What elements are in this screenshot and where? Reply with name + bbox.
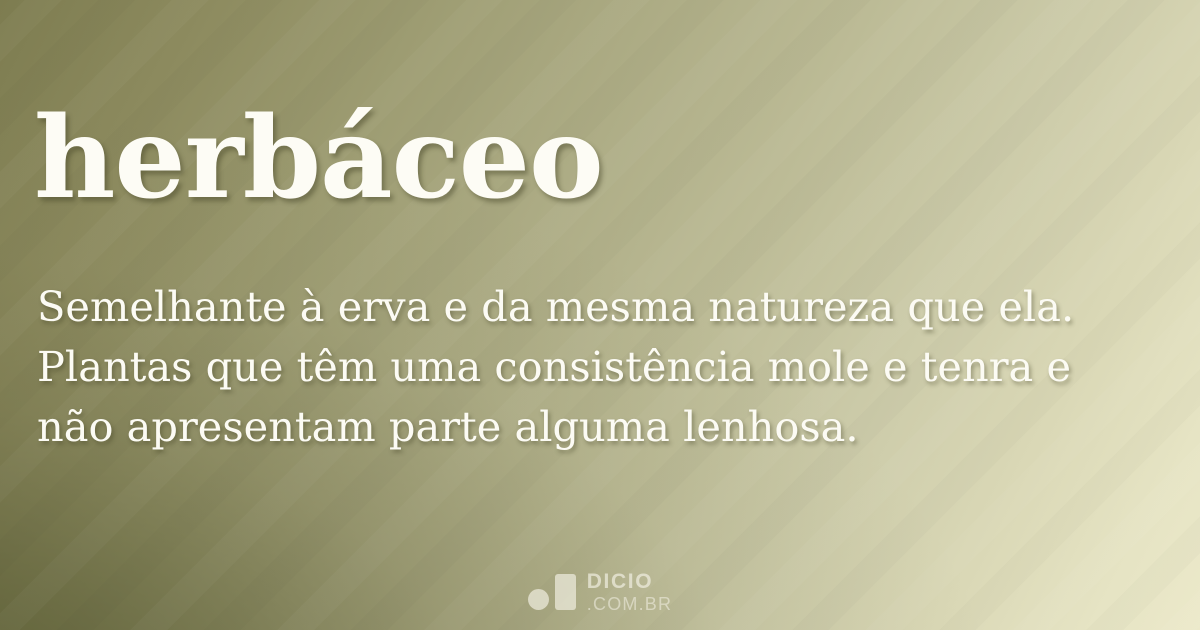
definition-line: Plantas que têm uma consistência mole e … [37, 337, 1172, 397]
definition-card: herbáceo Semelhante à erva e da mesma na… [0, 0, 1200, 630]
logo-tld: .COM.BR [587, 595, 672, 613]
definition-line: Semelhante à erva e da mesma natureza qu… [37, 277, 1172, 337]
logo-name: DICIO [587, 571, 672, 592]
circle-mark-icon [528, 589, 549, 610]
logo-mark [528, 574, 576, 610]
dicio-logo: DICIO .COM.BR [0, 571, 1200, 613]
card-content: herbáceo Semelhante à erva e da mesma na… [0, 0, 1200, 630]
logo-wordmark: DICIO .COM.BR [587, 571, 672, 613]
definition-text: Semelhante à erva e da mesma natureza qu… [37, 277, 1172, 457]
page-title: herbáceo [34, 99, 603, 220]
bar-mark-icon [555, 574, 576, 610]
definition-line: não apresentam parte alguma lenhosa. [37, 397, 1172, 457]
